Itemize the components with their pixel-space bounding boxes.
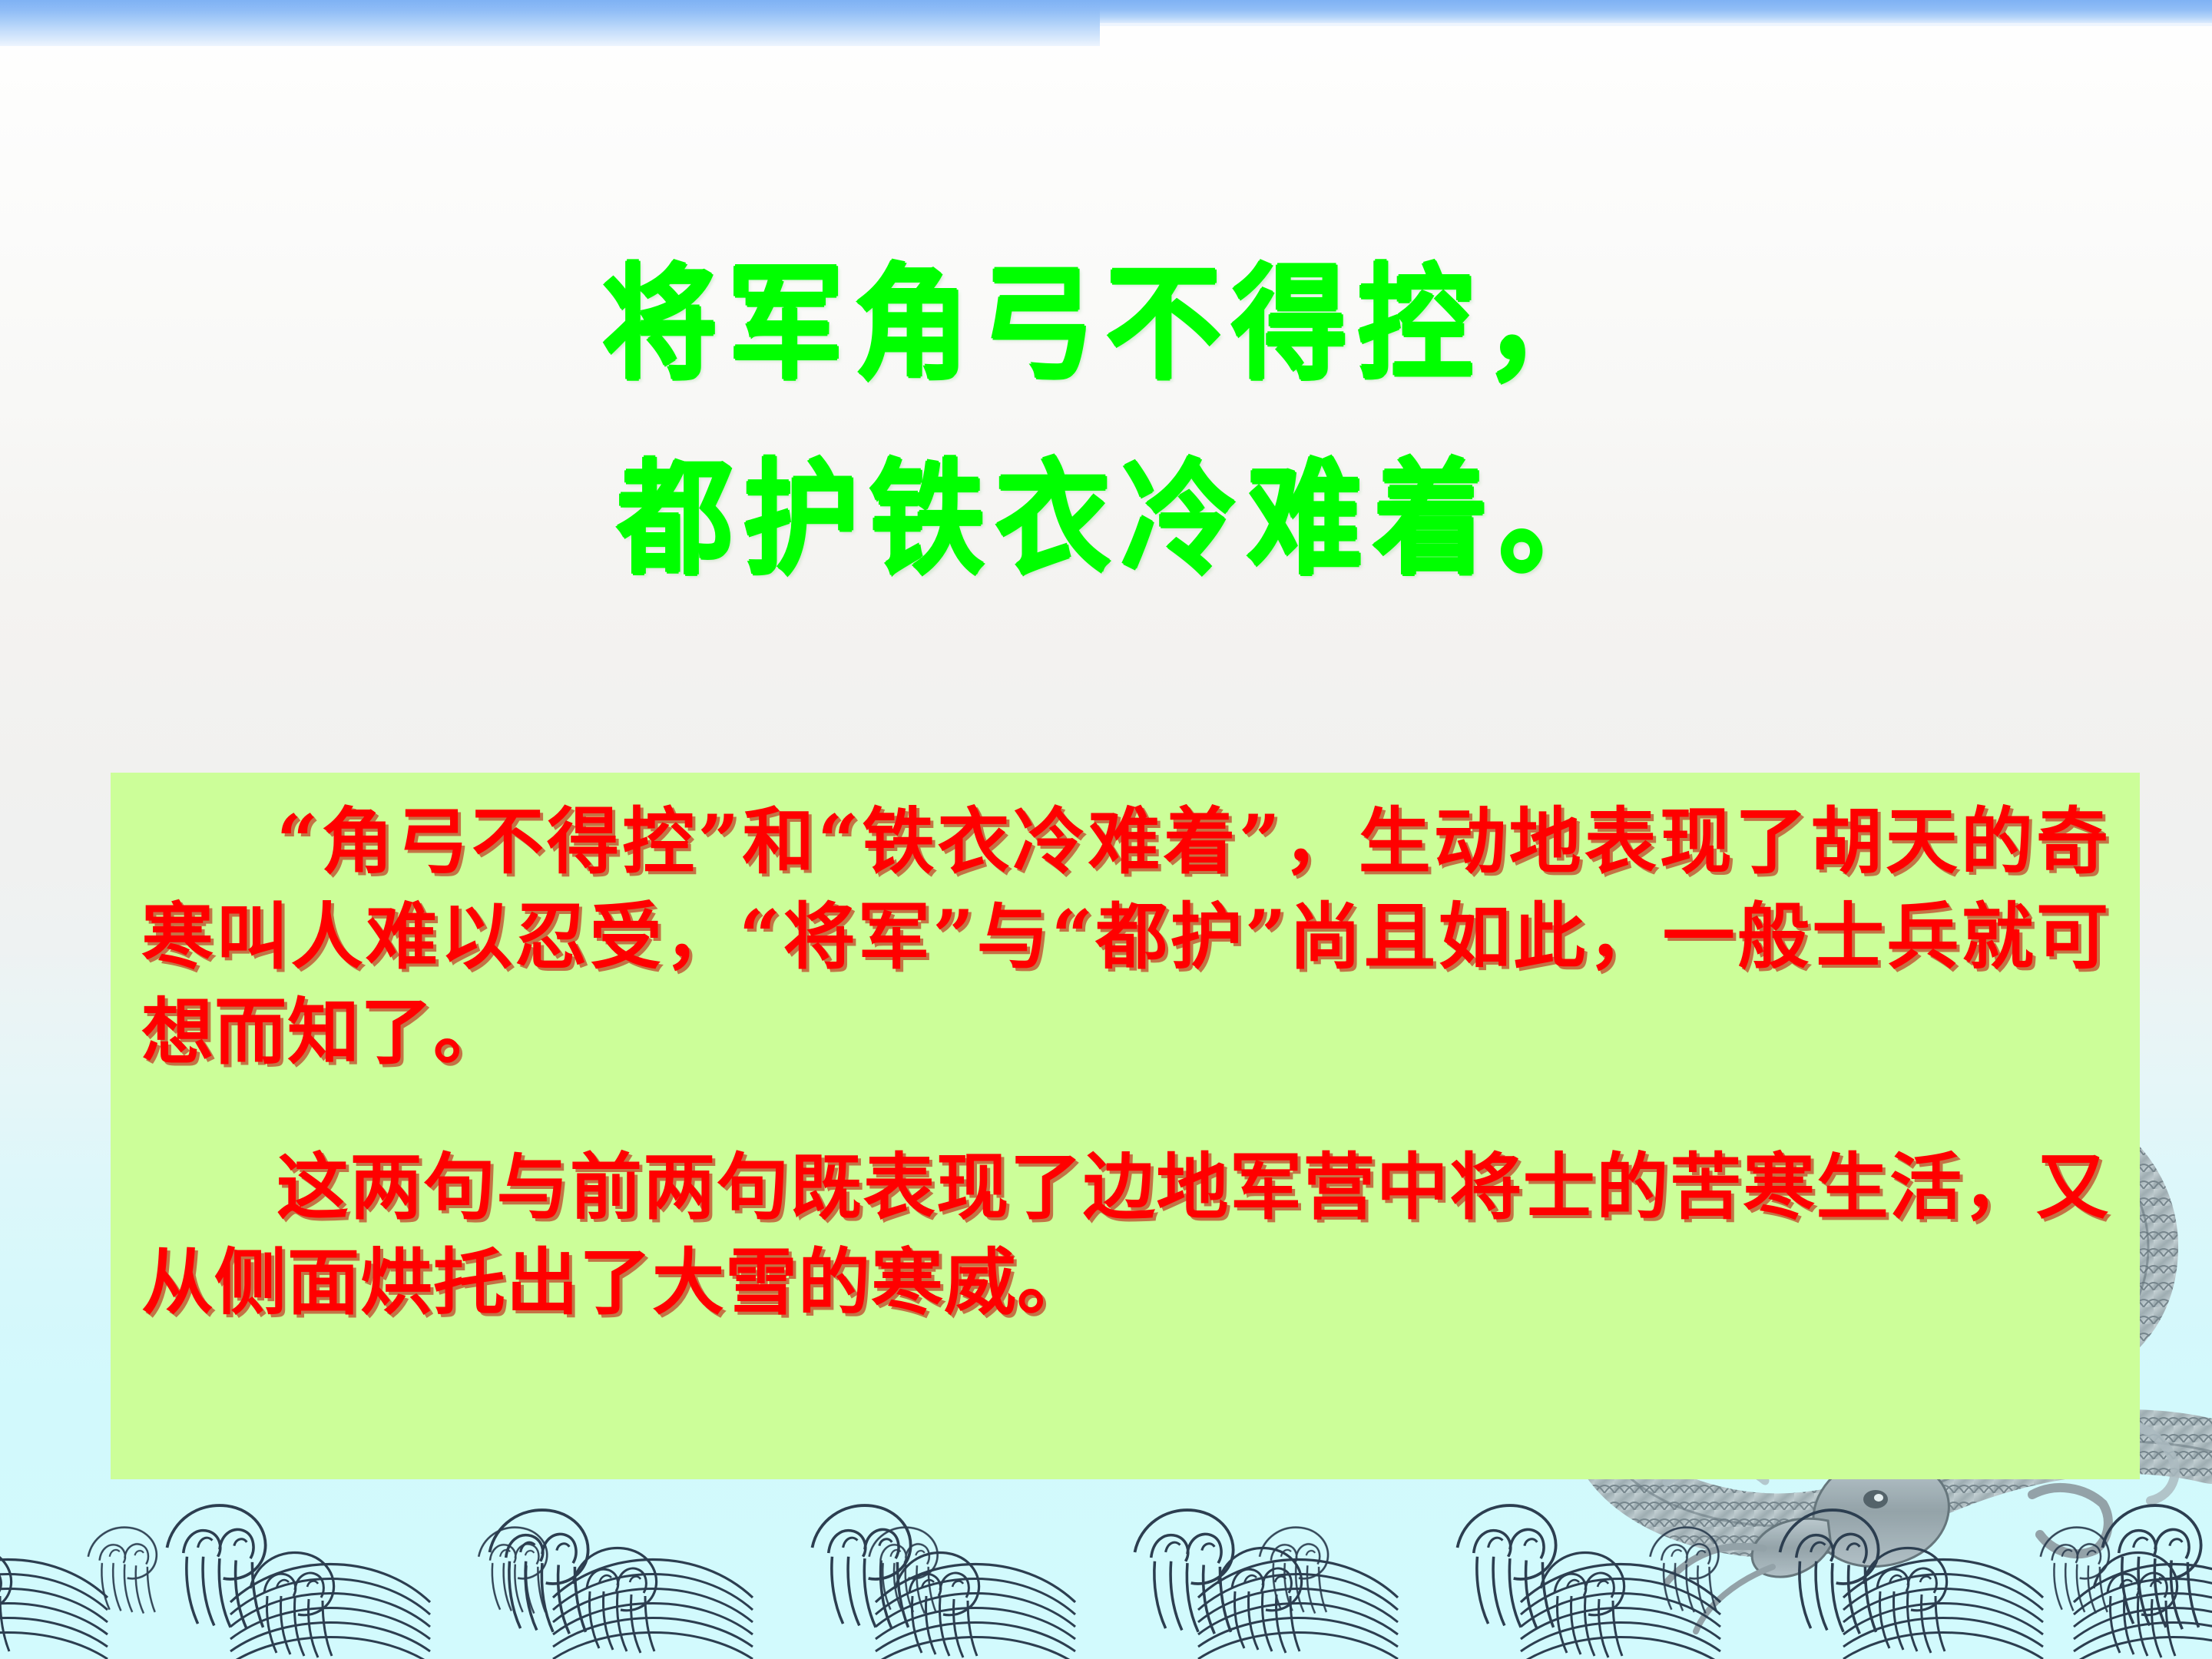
slide-canvas: 将军角弓不得控， 都护铁衣冷难着。 “角弓不得控”和“铁衣冷难着”，生动地表现了… [0, 0, 2212, 1659]
top-band-seam [1100, 23, 2212, 26]
top-decorative-band-left [0, 0, 1100, 46]
commentary-paragraph-1: “角弓不得控”和“铁衣冷难着”，生动地表现了胡天的奇寒叫人难以忍受，“将军”与“… [141, 794, 2109, 1080]
commentary-box: “角弓不得控”和“铁衣冷难着”，生动地表现了胡天的奇寒叫人难以忍受，“将军”与“… [111, 773, 2140, 1479]
commentary-paragraph-2: 这两句与前两句既表现了边地军营中将士的苦寒生活，又从侧面烘托出了大雪的寒威。 [141, 1140, 2109, 1330]
wave-pattern-decoration-icon [0, 1482, 2212, 1659]
top-decorative-band-right [1100, 0, 2212, 23]
poem-title-block: 将军角弓不得控， 都护铁衣冷难着。 [0, 230, 2212, 601]
poem-line-1: 将军角弓不得控， [0, 230, 2212, 419]
poem-line-2: 都护铁衣冷难着。 [31, 426, 2212, 614]
